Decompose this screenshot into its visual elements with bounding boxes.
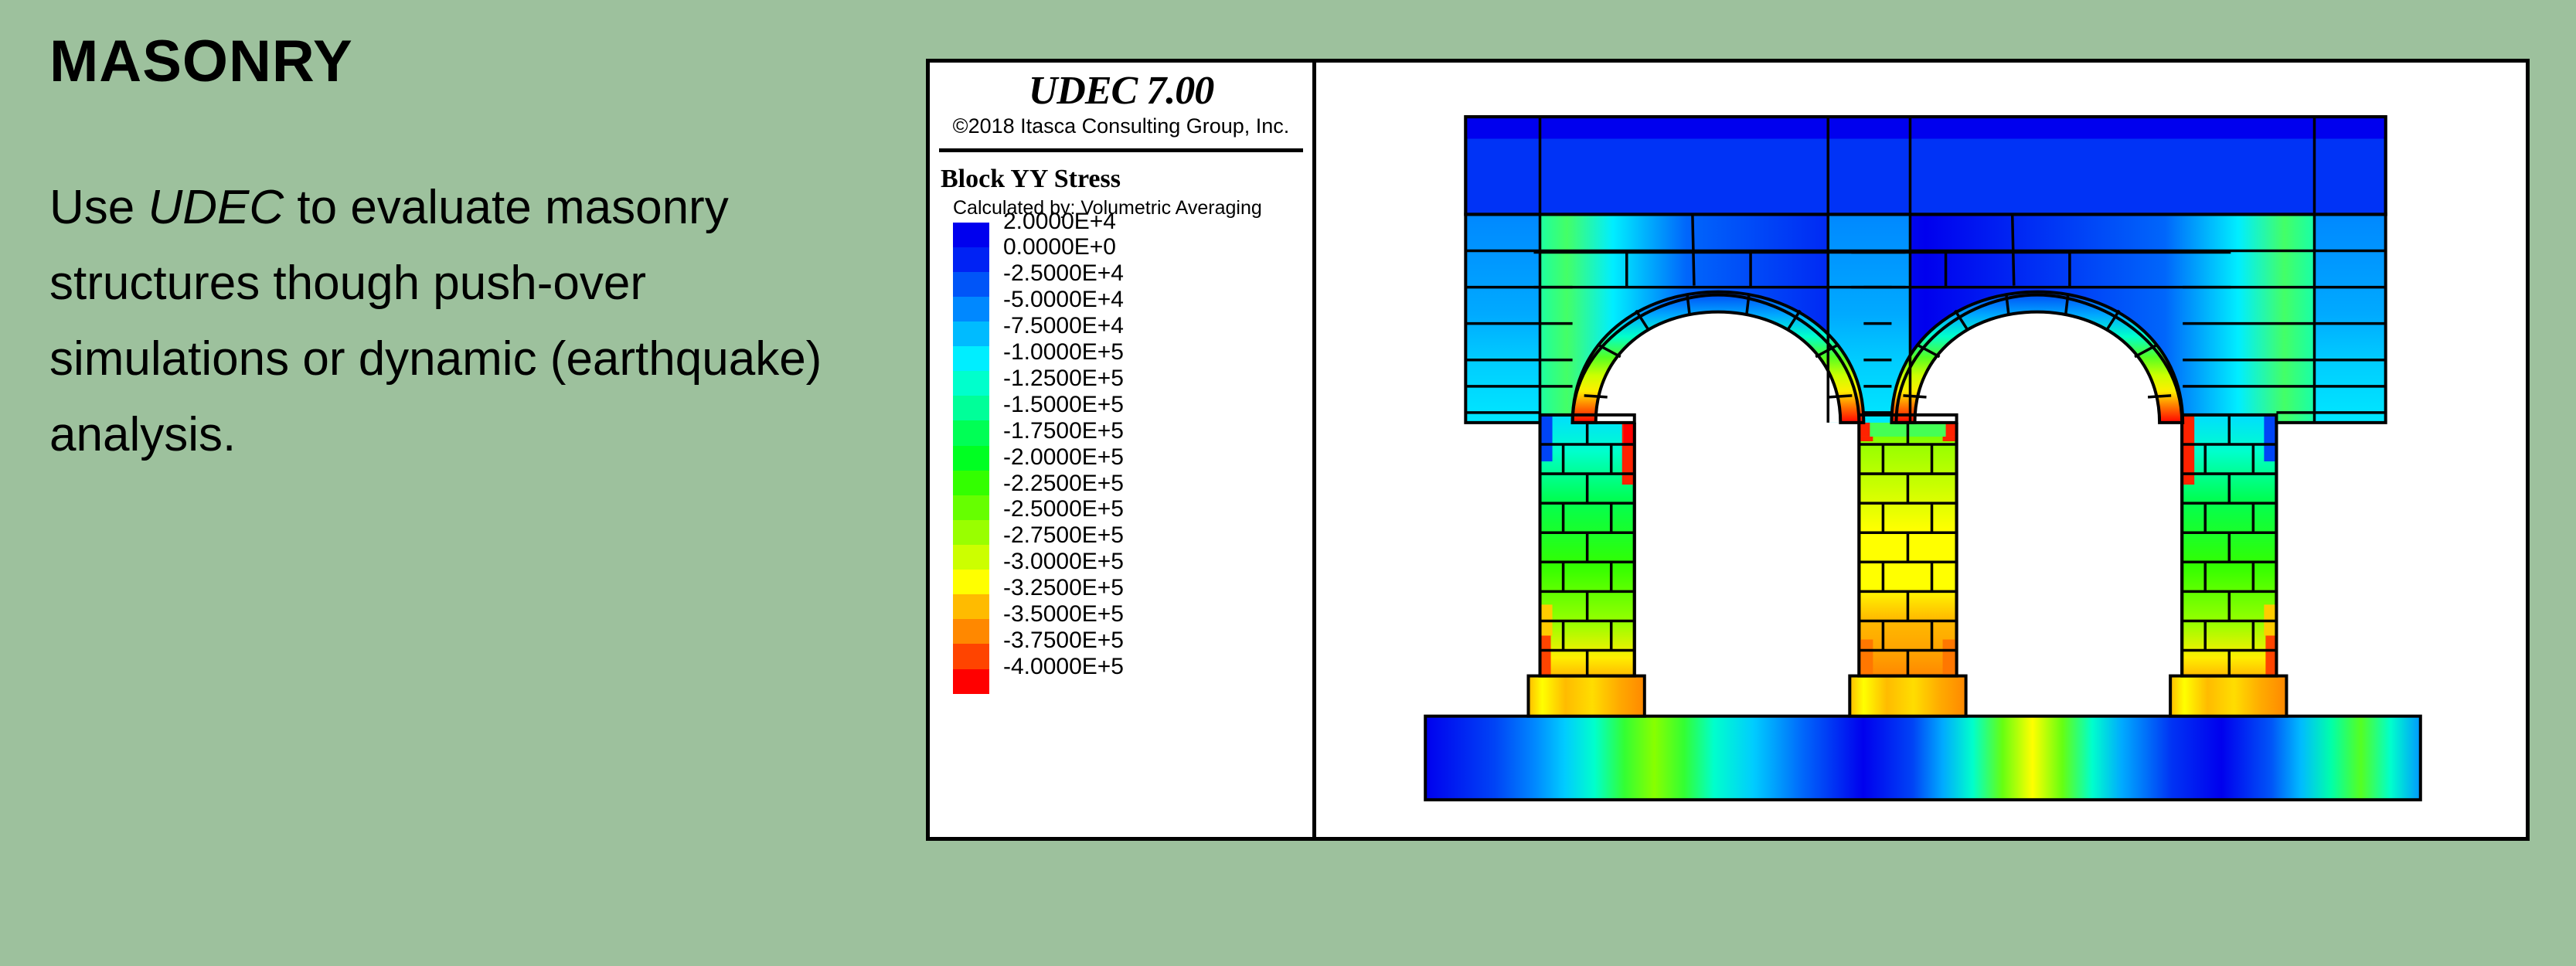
color-scale-label: -1.7500E+5	[1003, 418, 1124, 444]
pier-right	[2182, 415, 2276, 676]
color-swatch	[953, 420, 989, 445]
color-swatch	[953, 520, 989, 545]
color-scale-label: -2.0000E+5	[1003, 444, 1124, 471]
color-swatch	[953, 446, 989, 471]
color-swatch	[953, 321, 989, 346]
color-scale-label: 2.0000E+4	[1003, 209, 1124, 235]
color-swatch	[953, 247, 989, 272]
color-swatch	[953, 223, 989, 247]
color-scale-label: -2.5000E+5	[1003, 496, 1124, 522]
color-swatch	[953, 644, 989, 668]
color-swatch	[953, 346, 989, 371]
pier-center	[1859, 415, 1956, 676]
color-swatch	[953, 669, 989, 694]
color-scale-label: -3.7500E+5	[1003, 628, 1124, 654]
color-scale-label: -7.5000E+4	[1003, 313, 1124, 339]
paragraph-italic-word: UDEC	[148, 181, 284, 234]
masonry-stress-contour-plot	[1316, 63, 2526, 837]
legend-heading: Block YY Stress	[941, 165, 1312, 194]
color-scale-label: -1.0000E+5	[1003, 339, 1124, 366]
color-scale-label: -5.0000E+4	[1003, 287, 1124, 313]
color-scale-label: -3.0000E+5	[1003, 549, 1124, 575]
foundation-slab	[1425, 716, 2421, 800]
top-cap-beam	[1465, 117, 2385, 214]
color-scale-label: -2.2500E+5	[1003, 471, 1124, 497]
color-swatch	[953, 396, 989, 420]
legend-pane: UDEC 7.00 ©2018 Itasca Consulting Group,…	[930, 63, 1316, 837]
color-swatch	[953, 471, 989, 495]
color-scale-labels: 2.0000E+40.0000E+0-2.5000E+4-5.0000E+4-7…	[1003, 209, 1124, 680]
color-swatch	[953, 297, 989, 321]
color-swatch	[953, 594, 989, 619]
color-scale-label: -1.5000E+5	[1003, 392, 1124, 418]
udec-copyright: ©2018 Itasca Consulting Group, Inc.	[930, 114, 1312, 138]
color-scale-label: -4.0000E+5	[1003, 654, 1124, 680]
udec-version-title: UDEC 7.00	[930, 70, 1312, 113]
color-swatch	[953, 545, 989, 570]
slide-root: MASONRY Use UDEC to evaluate masonry str…	[0, 0, 2576, 966]
pier-left	[1540, 415, 1635, 676]
color-swatch	[953, 570, 989, 594]
color-scale: 2.0000E+40.0000E+0-2.5000E+4-5.0000E+4-7…	[930, 223, 1312, 694]
color-scale-label: -2.7500E+5	[1003, 522, 1124, 549]
color-scale-label: -3.2500E+5	[1003, 575, 1124, 601]
text-column: MASONRY Use UDEC to evaluate masonry str…	[0, 0, 889, 966]
legend-divider-rule	[939, 148, 1303, 152]
udec-figure-panel: UDEC 7.00 ©2018 Itasca Consulting Group,…	[926, 59, 2530, 841]
body-paragraph: Use UDEC to evaluate masonry structures …	[49, 170, 869, 473]
color-swatch	[953, 272, 989, 297]
color-scale-label: -1.2500E+5	[1003, 366, 1124, 392]
color-scale-label: 0.0000E+0	[1003, 234, 1124, 260]
color-swatch	[953, 371, 989, 396]
color-scale-label: -2.5000E+4	[1003, 260, 1124, 287]
color-scale-label: -3.5000E+5	[1003, 601, 1124, 628]
color-scale-bar	[953, 223, 989, 694]
paragraph-prefix: Use	[49, 181, 148, 234]
page-title: MASONRY	[49, 32, 353, 91]
plot-pane	[1316, 63, 2526, 837]
spandrel-wall	[1465, 214, 2385, 423]
pier-footings	[1528, 676, 2286, 716]
color-swatch	[953, 619, 989, 644]
color-swatch	[953, 495, 989, 520]
